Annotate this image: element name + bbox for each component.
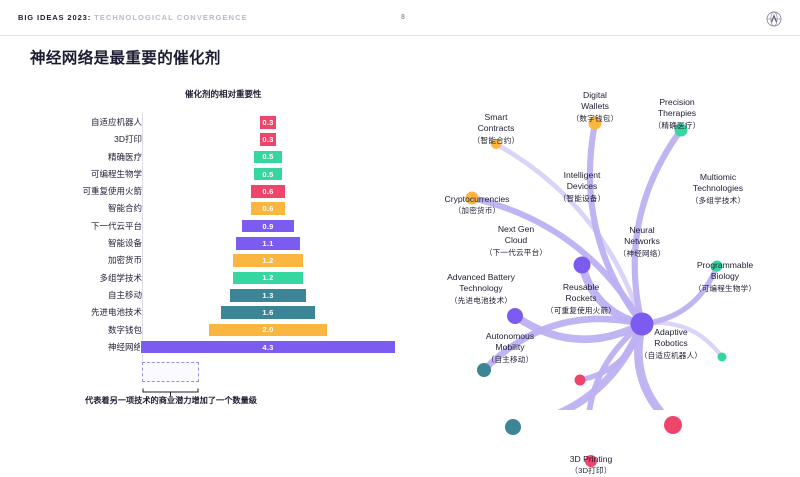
network-node[interactable] [664,416,682,434]
network-node[interactable] [589,117,602,130]
network-diagram-panel: DigitalWallets（数字钱包）SmartContracts（智能合约）… [415,80,800,410]
funnel-row-label: 数字钱包 [0,324,142,336]
page-number: 8 [396,14,410,21]
funnel-bar-value: 1.2 [262,273,273,282]
funnel-bar: 0.5 [253,167,283,182]
network-edge [642,266,717,324]
funnel-bar: 0.6 [250,184,286,199]
network-node[interactable] [631,313,654,336]
funnel-chart-title: 催化剂的相对重要性 [185,88,262,100]
network-edges [415,80,800,410]
funnel-bar-value: 1.6 [262,308,273,317]
funnel-row: 数字钱包2.0 [0,322,410,339]
funnel-bar-value: 1.2 [262,256,273,265]
funnel-row: 3D打印0.3 [0,131,410,148]
network-edge [638,324,673,410]
funnel-bar: 1.3 [229,288,306,303]
funnel-row-label: 神经网络 [0,341,142,353]
funnel-bar-value: 4.3 [262,343,273,352]
funnel-row-label: 智能合约 [0,202,142,214]
funnel-row-label: 智能设备 [0,237,142,249]
network-node[interactable] [585,455,597,467]
network-node[interactable] [575,375,586,386]
network-node[interactable] [466,192,479,205]
funnel-row-label: 加密货币 [0,254,142,266]
funnel-row-label: 精确医疗 [0,151,142,163]
funnel-chart-panel: 催化剂的相对重要性 自适应机器人0.33D打印0.3精确医疗0.5可编程生物学0… [0,82,410,412]
network-edge [496,144,642,324]
funnel-row: 自适应机器人0.3 [0,114,410,131]
funnel-bar: 1.2 [232,253,303,268]
funnel-bar-value: 0.6 [262,204,273,213]
network-node[interactable] [675,124,688,137]
network-node[interactable] [712,261,723,272]
funnel-row: 智能设备1.1 [0,235,410,252]
funnel-bar-value: 0.9 [262,222,273,231]
funnel-row: 神经网络4.3 [0,339,410,356]
funnel-row: 自主移动1.3 [0,287,410,304]
ark-circle-logo-icon [766,11,782,27]
funnel-row-label: 自适应机器人 [0,116,142,128]
funnel-row-label: 可重复使用火箭 [0,185,142,197]
funnel-row-label: 自主移动 [0,289,142,301]
funnel-bar-value: 0.5 [262,170,273,179]
funnel-bar: 1.1 [235,236,300,251]
funnel-bar-value: 0.3 [262,118,273,127]
funnel-row: 可编程生物学0.5 [0,166,410,183]
funnel-bar-value: 1.1 [262,239,273,248]
funnel-bar-value: 2.0 [262,325,273,334]
network-node[interactable] [507,308,523,324]
header-subject: TECHNOLOGICAL CONVERGENCE [94,13,248,22]
funnel-bar: 1.2 [232,271,303,286]
header-kicker: BIG IDEAS 2023: TECHNOLOGICAL CONVERGENC… [18,13,248,22]
page-title: 神经网络是最重要的催化剂 [30,46,221,68]
header-bar: BIG IDEAS 2023: TECHNOLOGICAL CONVERGENC… [0,0,800,36]
funnel-bar: 0.3 [259,132,277,147]
funnel-bar: 0.6 [250,201,286,216]
funnel-row: 多组学技术1.2 [0,270,410,287]
funnel-bar-value: 0.5 [262,152,273,161]
network-node[interactable] [574,257,591,274]
funnel-bar: 0.9 [241,219,295,234]
funnel-row: 可重复使用火箭0.6 [0,183,410,200]
funnel-row: 智能合约0.6 [0,200,410,217]
funnel-row-label: 可编程生物学 [0,168,142,180]
funnel-row: 下一代云平台0.9 [0,218,410,235]
network-node-label-cn: （3D打印） [570,465,613,476]
funnel-bar: 1.6 [220,305,315,320]
funnel-row-label: 3D打印 [0,133,142,145]
funnel-bar-value: 0.3 [262,135,273,144]
funnel-row-label: 多组学技术 [0,272,142,284]
funnel-bar: 4.3 [140,340,396,355]
network-edge [635,130,681,324]
funnel-row-label: 先进电池技术 [0,306,142,318]
footnote-bracket-icon [142,384,199,393]
funnel-bar: 0.5 [253,150,283,165]
network-node[interactable] [718,353,727,362]
funnel-bar-rows: 自适应机器人0.33D打印0.3精确医疗0.5可编程生物学0.5可重复使用火箭0… [0,114,410,356]
network-node[interactable] [491,139,501,149]
header-brand: BIG IDEAS 2023: [18,13,91,22]
funnel-row-label: 下一代云平台 [0,220,142,232]
funnel-row: 精确医疗0.5 [0,149,410,166]
network-edge [642,323,722,357]
funnel-bar: 2.0 [208,323,327,338]
footnote-reference-box [142,362,199,382]
funnel-row: 先进电池技术1.6 [0,304,410,321]
network-node[interactable] [477,363,491,377]
funnel-bar-value: 1.3 [262,291,273,300]
footnote-text: 代表着另一项技术的商业潜力增加了一个数量级 [85,394,257,406]
funnel-row: 加密货币1.2 [0,252,410,269]
network-node[interactable] [505,419,521,435]
funnel-bar: 0.3 [259,115,277,130]
funnel-bar-value: 0.6 [262,187,273,196]
